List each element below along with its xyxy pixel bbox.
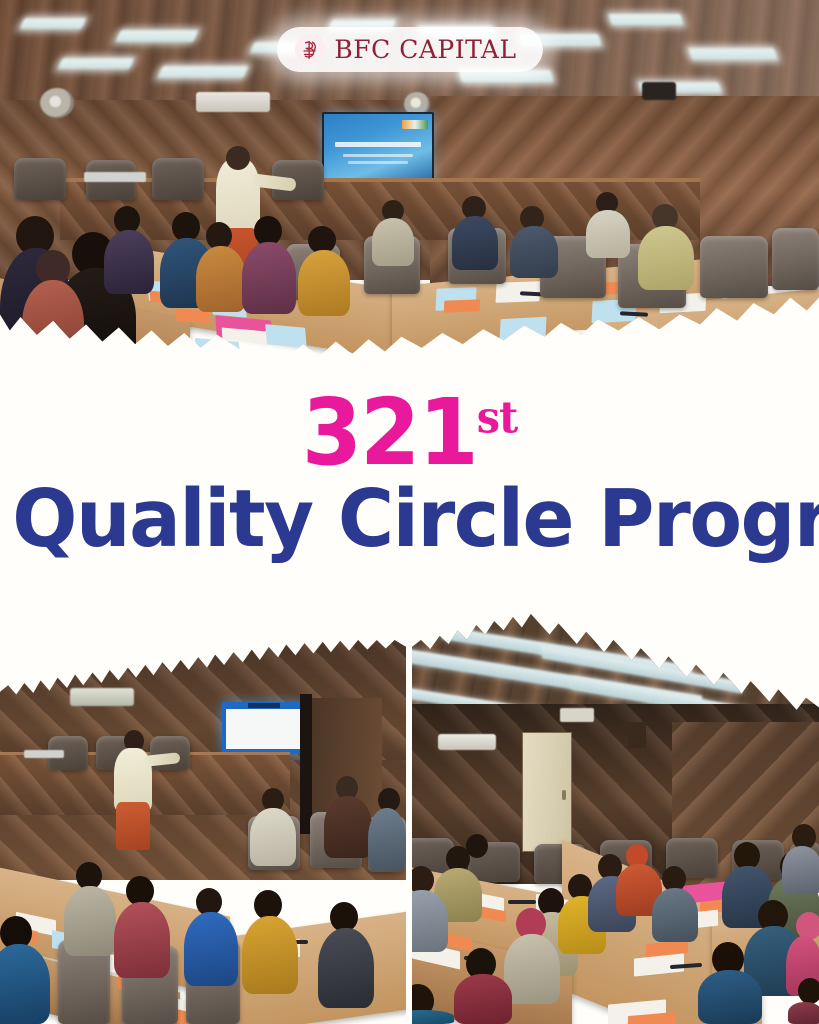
poster-canvas: 321st Quality Circle Program BFC CAPITAL [0, 0, 819, 1024]
attendee-body [510, 226, 558, 278]
handout-orange [444, 299, 481, 312]
attendee-head [466, 834, 488, 858]
attendee-body [368, 808, 406, 870]
ceiling-light [20, 18, 87, 29]
bottom-left-scene [0, 640, 406, 1024]
desk-nameplate [84, 172, 146, 182]
attendee-body [242, 242, 296, 314]
wall-panel [628, 722, 646, 748]
handout-blue [265, 324, 307, 348]
ceiling-light [608, 14, 683, 25]
attendee-body [372, 218, 414, 266]
attendee-body [22, 280, 84, 372]
handout-blue [195, 338, 241, 364]
audience-chair [772, 228, 819, 290]
presenter-lower [116, 802, 150, 850]
attendee-body [196, 246, 246, 312]
attendee-body [104, 230, 154, 294]
attendee-body [504, 934, 560, 1004]
projector [560, 708, 594, 722]
air-conditioner [438, 734, 496, 750]
ceiling-light [58, 58, 135, 69]
dais-chair [14, 158, 66, 200]
photo-bottom-right [412, 612, 819, 1024]
headline-block: 321st Quality Circle Program [0, 392, 819, 558]
attendee-body [318, 928, 374, 1008]
attendee-body [782, 846, 819, 894]
bottom-right-scene [412, 612, 819, 1024]
door-handle[interactable] [562, 790, 566, 800]
attendee-head [798, 978, 819, 1004]
ceiling-light [157, 66, 248, 78]
ceiling-light [115, 30, 198, 42]
pen [508, 900, 536, 904]
air-conditioner [70, 688, 134, 706]
projection-screen [222, 702, 308, 754]
desk-nameplate [24, 750, 64, 758]
handout-white [560, 329, 609, 350]
brand-name: BFC CAPITAL [334, 35, 516, 64]
page-title: Quality Circle Program [12, 481, 806, 558]
bfc-monogram-icon [294, 34, 325, 65]
wall-fan-icon [40, 88, 74, 118]
ordinal-number: 321 [302, 379, 477, 486]
ordinal-suffix: st [477, 392, 518, 443]
attendee-body [412, 1010, 454, 1024]
ordinal-number-wrap: 321st [302, 392, 517, 475]
dais-chair [152, 158, 204, 200]
brand-logo[interactable]: BFC CAPITAL [276, 27, 542, 72]
attendee-body [788, 1002, 819, 1024]
attendee-body [64, 886, 116, 956]
attendee-body [652, 888, 698, 942]
attendee-body [452, 216, 498, 270]
attendee-body [454, 974, 512, 1024]
wall-speaker [642, 82, 676, 100]
presentation-screen [322, 112, 434, 182]
ceiling-light [688, 48, 778, 60]
audience-chair [700, 236, 768, 298]
air-conditioner [196, 92, 270, 112]
photo-bottom-left [0, 640, 406, 1024]
attendee-body [242, 916, 298, 994]
door-frame [300, 694, 312, 834]
handout-blue [499, 317, 546, 342]
attendee-body [324, 796, 372, 858]
attendee-body [0, 944, 50, 1024]
attendee-body [698, 970, 762, 1024]
attendee-body [114, 902, 170, 978]
attendee-body [184, 912, 238, 986]
attendee-body [638, 226, 694, 290]
attendee-body [298, 250, 350, 316]
attendee-body [586, 210, 630, 258]
presenter-head [226, 146, 250, 170]
attendee-body [250, 808, 296, 866]
